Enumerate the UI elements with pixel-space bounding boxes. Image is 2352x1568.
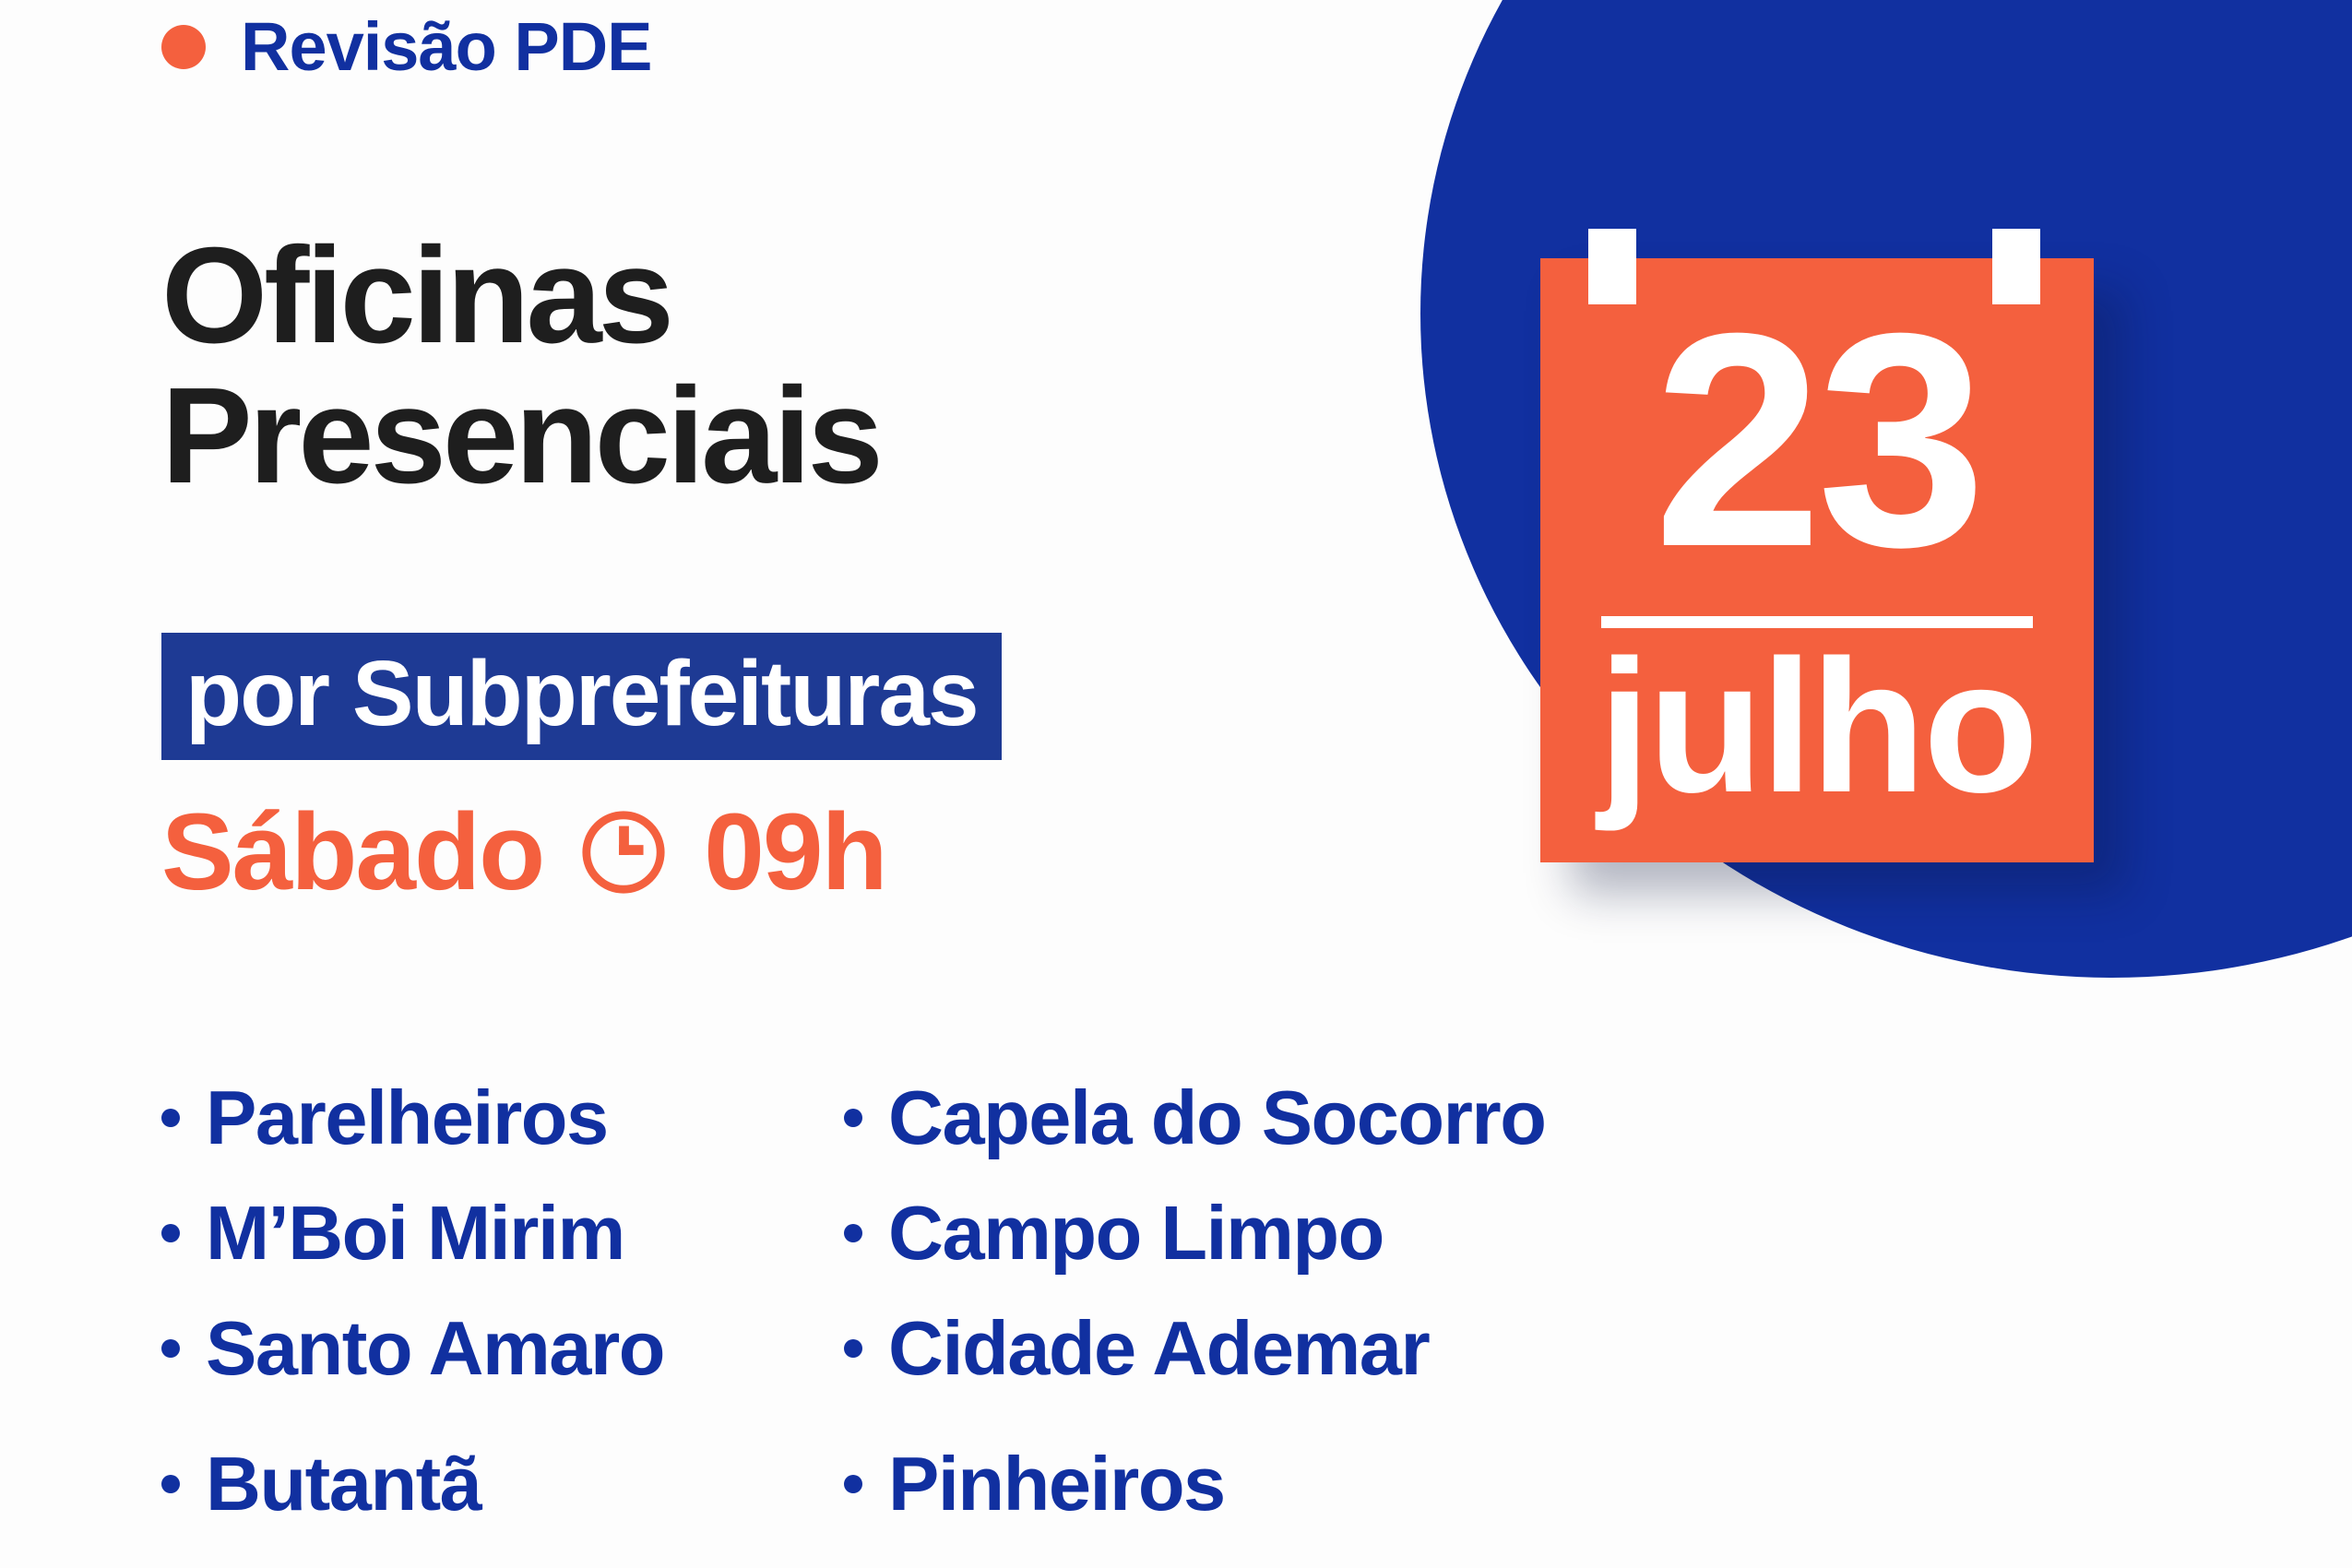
subprefeitura-label: Pinheiros: [888, 1445, 1225, 1522]
schedule-day-label: Sábado: [161, 798, 543, 907]
bullet-dot-icon: [844, 1475, 862, 1493]
bullet-dot-icon: [161, 1339, 180, 1358]
bullet-dot-icon: [844, 1224, 862, 1242]
subprefeituras-list: Parelheiros M’Boi Mirim Santo Amaro Buta…: [161, 1079, 1526, 1561]
schedule-time-label: 09h: [704, 798, 885, 907]
list-item: Pinheiros: [844, 1445, 1526, 1561]
subtitle-label: por Subprefeituras: [185, 642, 978, 745]
subprefeituras-column-left: Parelheiros M’Boi Mirim Santo Amaro Buta…: [161, 1079, 844, 1561]
calendar-day: 23: [1540, 295, 2094, 585]
list-item: Parelheiros: [161, 1079, 844, 1194]
eyebrow: Revisão PDE: [161, 7, 652, 86]
subprefeitura-label: Campo Limpo: [888, 1194, 1384, 1271]
subprefeitura-label: Cidade Ademar: [888, 1310, 1429, 1386]
content-column: Revisão PDE Oficinas Presenciais por Sub…: [161, 0, 1499, 1568]
page-title: Oficinas Presenciais: [161, 226, 880, 507]
list-item: Butantã: [161, 1445, 844, 1561]
bullet-dot-icon: [161, 1224, 180, 1242]
subprefeitura-label: Butantã: [206, 1445, 481, 1522]
subprefeitura-label: M’Boi Mirim: [206, 1194, 624, 1271]
subprefeitura-label: Capela do Socorro: [888, 1079, 1545, 1156]
bullet-dot-icon: [161, 1475, 180, 1493]
title-line-2: Presenciais: [161, 366, 880, 506]
bullet-dot-icon: [161, 25, 206, 69]
list-item: M’Boi Mirim: [161, 1194, 844, 1310]
list-item: Campo Limpo: [844, 1194, 1526, 1310]
poster-canvas: 23 julho Revisão PDE Oficinas Presenciai…: [0, 0, 2352, 1568]
list-item: Santo Amaro: [161, 1310, 844, 1425]
calendar-badge: 23 julho: [1540, 258, 2094, 862]
title-line-1: Oficinas: [161, 226, 880, 366]
subprefeitura-label: Santo Amaro: [206, 1310, 664, 1386]
bullet-dot-icon: [844, 1109, 862, 1127]
calendar-tab-right-icon: [1992, 229, 2040, 304]
subprefeitura-label: Parelheiros: [206, 1079, 608, 1156]
calendar-month: julho: [1540, 627, 2094, 826]
subtitle-highlight-bar: por Subprefeituras: [161, 633, 1002, 760]
eyebrow-label: Revisão PDE: [241, 7, 652, 86]
calendar-tab-left-icon: [1588, 229, 1636, 304]
subprefeituras-column-right: Capela do Socorro Campo Limpo Cidade Ade…: [844, 1079, 1526, 1561]
bullet-dot-icon: [844, 1339, 862, 1358]
list-item: Cidade Ademar: [844, 1310, 1526, 1425]
schedule-row: Sábado 09h: [161, 798, 886, 907]
clock-icon: [578, 807, 669, 897]
bullet-dot-icon: [161, 1109, 180, 1127]
list-item: Capela do Socorro: [844, 1079, 1526, 1194]
